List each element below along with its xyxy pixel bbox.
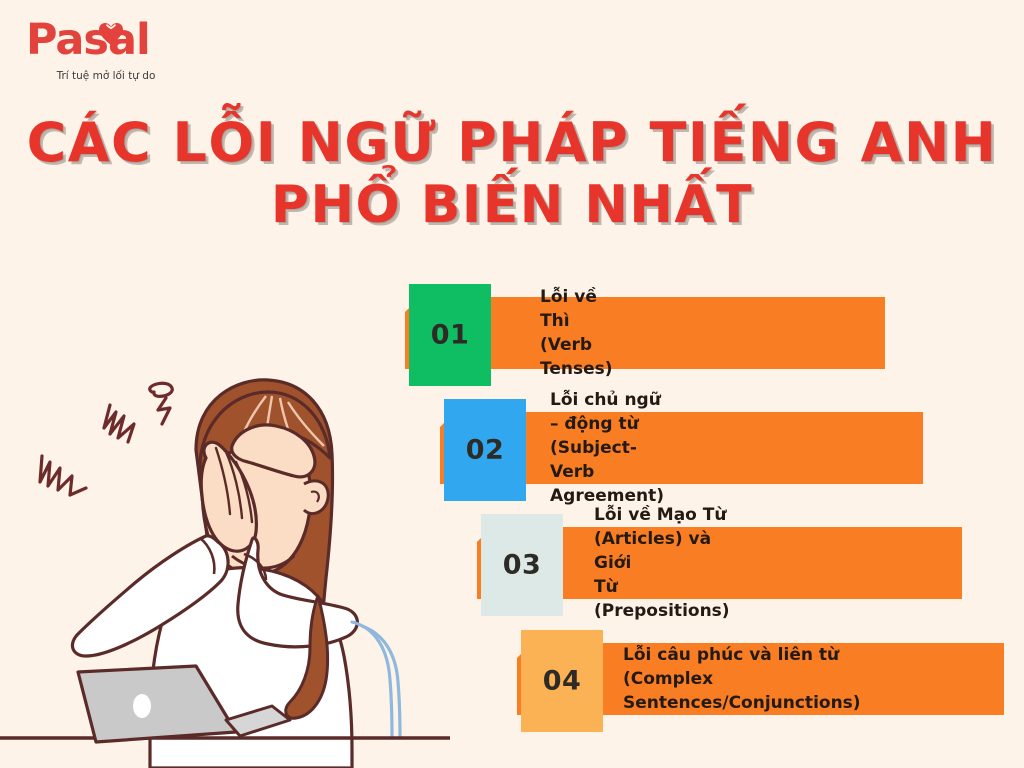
list-item-label: Lỗi về Thì (Verb Tenses) [540,285,613,381]
page-title: CÁC LỖI NGỮ PHÁP TIẾNG ANH PHỔ BIẾN NHẤT [0,112,1024,236]
list-item-label: Lỗi câu phúc và liên từ (Complex Sentenc… [623,643,861,715]
laptop-logo [133,694,151,718]
ear [304,481,328,514]
title-line-2: PHỔ BIẾN NHẤT [0,174,1024,236]
list-item-number-badge: 03 [481,514,563,616]
list-item-label: Lỗi chủ ngữ – động từ (Subject-Verb Agre… [550,388,664,508]
pasal-logo: Pasal Trí tuệ mở lối tự do [26,14,176,86]
apple-heart-icon [98,22,124,46]
list-item-label: Lỗi về Mạo Từ (Articles) và Giới Từ (Pre… [594,503,730,623]
stress-marks-icon [40,383,172,495]
list-item-number-badge: 04 [521,630,603,732]
list-item-number: 02 [444,435,526,466]
list-item-number: 04 [521,666,603,697]
list-item-number-badge: 02 [444,399,526,501]
infographic-canvas: Pasal Trí tuệ mở lối tự do CÁC LỖI NGỮ P… [0,0,1024,768]
title-line-1: CÁC LỖI NGỮ PHÁP TIẾNG ANH [0,112,1024,174]
chair-back [352,622,400,738]
list-item-number: 03 [481,550,563,581]
logo-tagline: Trí tuệ mở lối tự do [36,70,176,82]
frustrated-woman-illustration [0,350,450,768]
list-item-number: 01 [409,320,491,351]
